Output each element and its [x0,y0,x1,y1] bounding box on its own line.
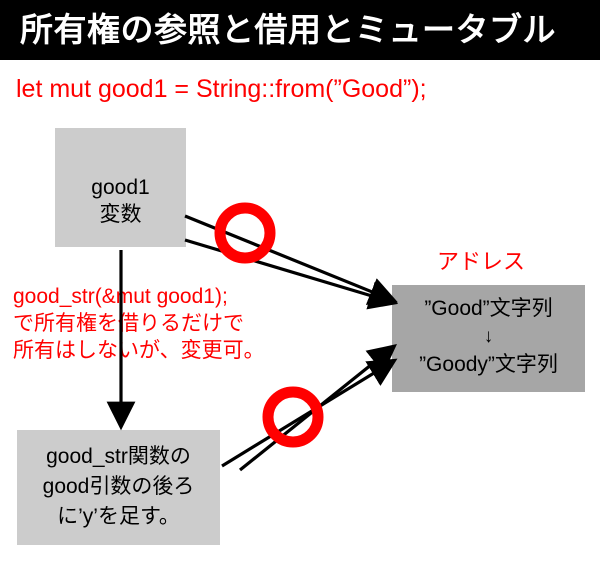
down-arrow-icon: ↓ [392,325,585,349]
function-box-line3: に’y’を足す。 [17,502,220,532]
function-box-line1: good_str関数の [17,442,220,472]
function-box-line2: good引数の後ろ [17,472,220,502]
variable-box: good1 変数 [55,128,186,247]
variable-box-line2: 変数 [55,201,186,228]
borrow-note-line2: で所有権を借りるだけで [13,310,265,337]
borrow-note-line1: good_str(&mut good1); [13,283,265,310]
page-title: 所有権の参照と借用とミュータブル [20,3,595,57]
arrow-function-to-address [222,348,392,470]
borrow-note-line3: 所有はしないが、変更可。 [13,337,265,364]
borrow-note: good_str(&mut good1); で所有権を借りるだけで 所有はしない… [13,283,265,364]
variable-box-line1: good1 [55,174,186,201]
code-declaration-line: let mut good1 = String::from(”Good”); [16,74,427,104]
title-bar: 所有権の参照と借用とミュータブル [0,0,600,60]
address-box-line1: ”Good”文字列 [392,293,585,325]
slide-canvas: 所有権の参照と借用とミュータブル let mut good1 = String:… [0,0,600,574]
address-box-line2: ”Goody”文字列 [392,349,585,381]
upper-prohibition-circle [220,208,270,258]
address-box: ”Good”文字列 ↓ ”Goody”文字列 [392,285,585,392]
lower-prohibition-circle [268,392,318,442]
address-label: アドレス [437,244,525,276]
function-box: good_str関数の good引数の後ろ に’y’を足す。 [17,430,220,545]
